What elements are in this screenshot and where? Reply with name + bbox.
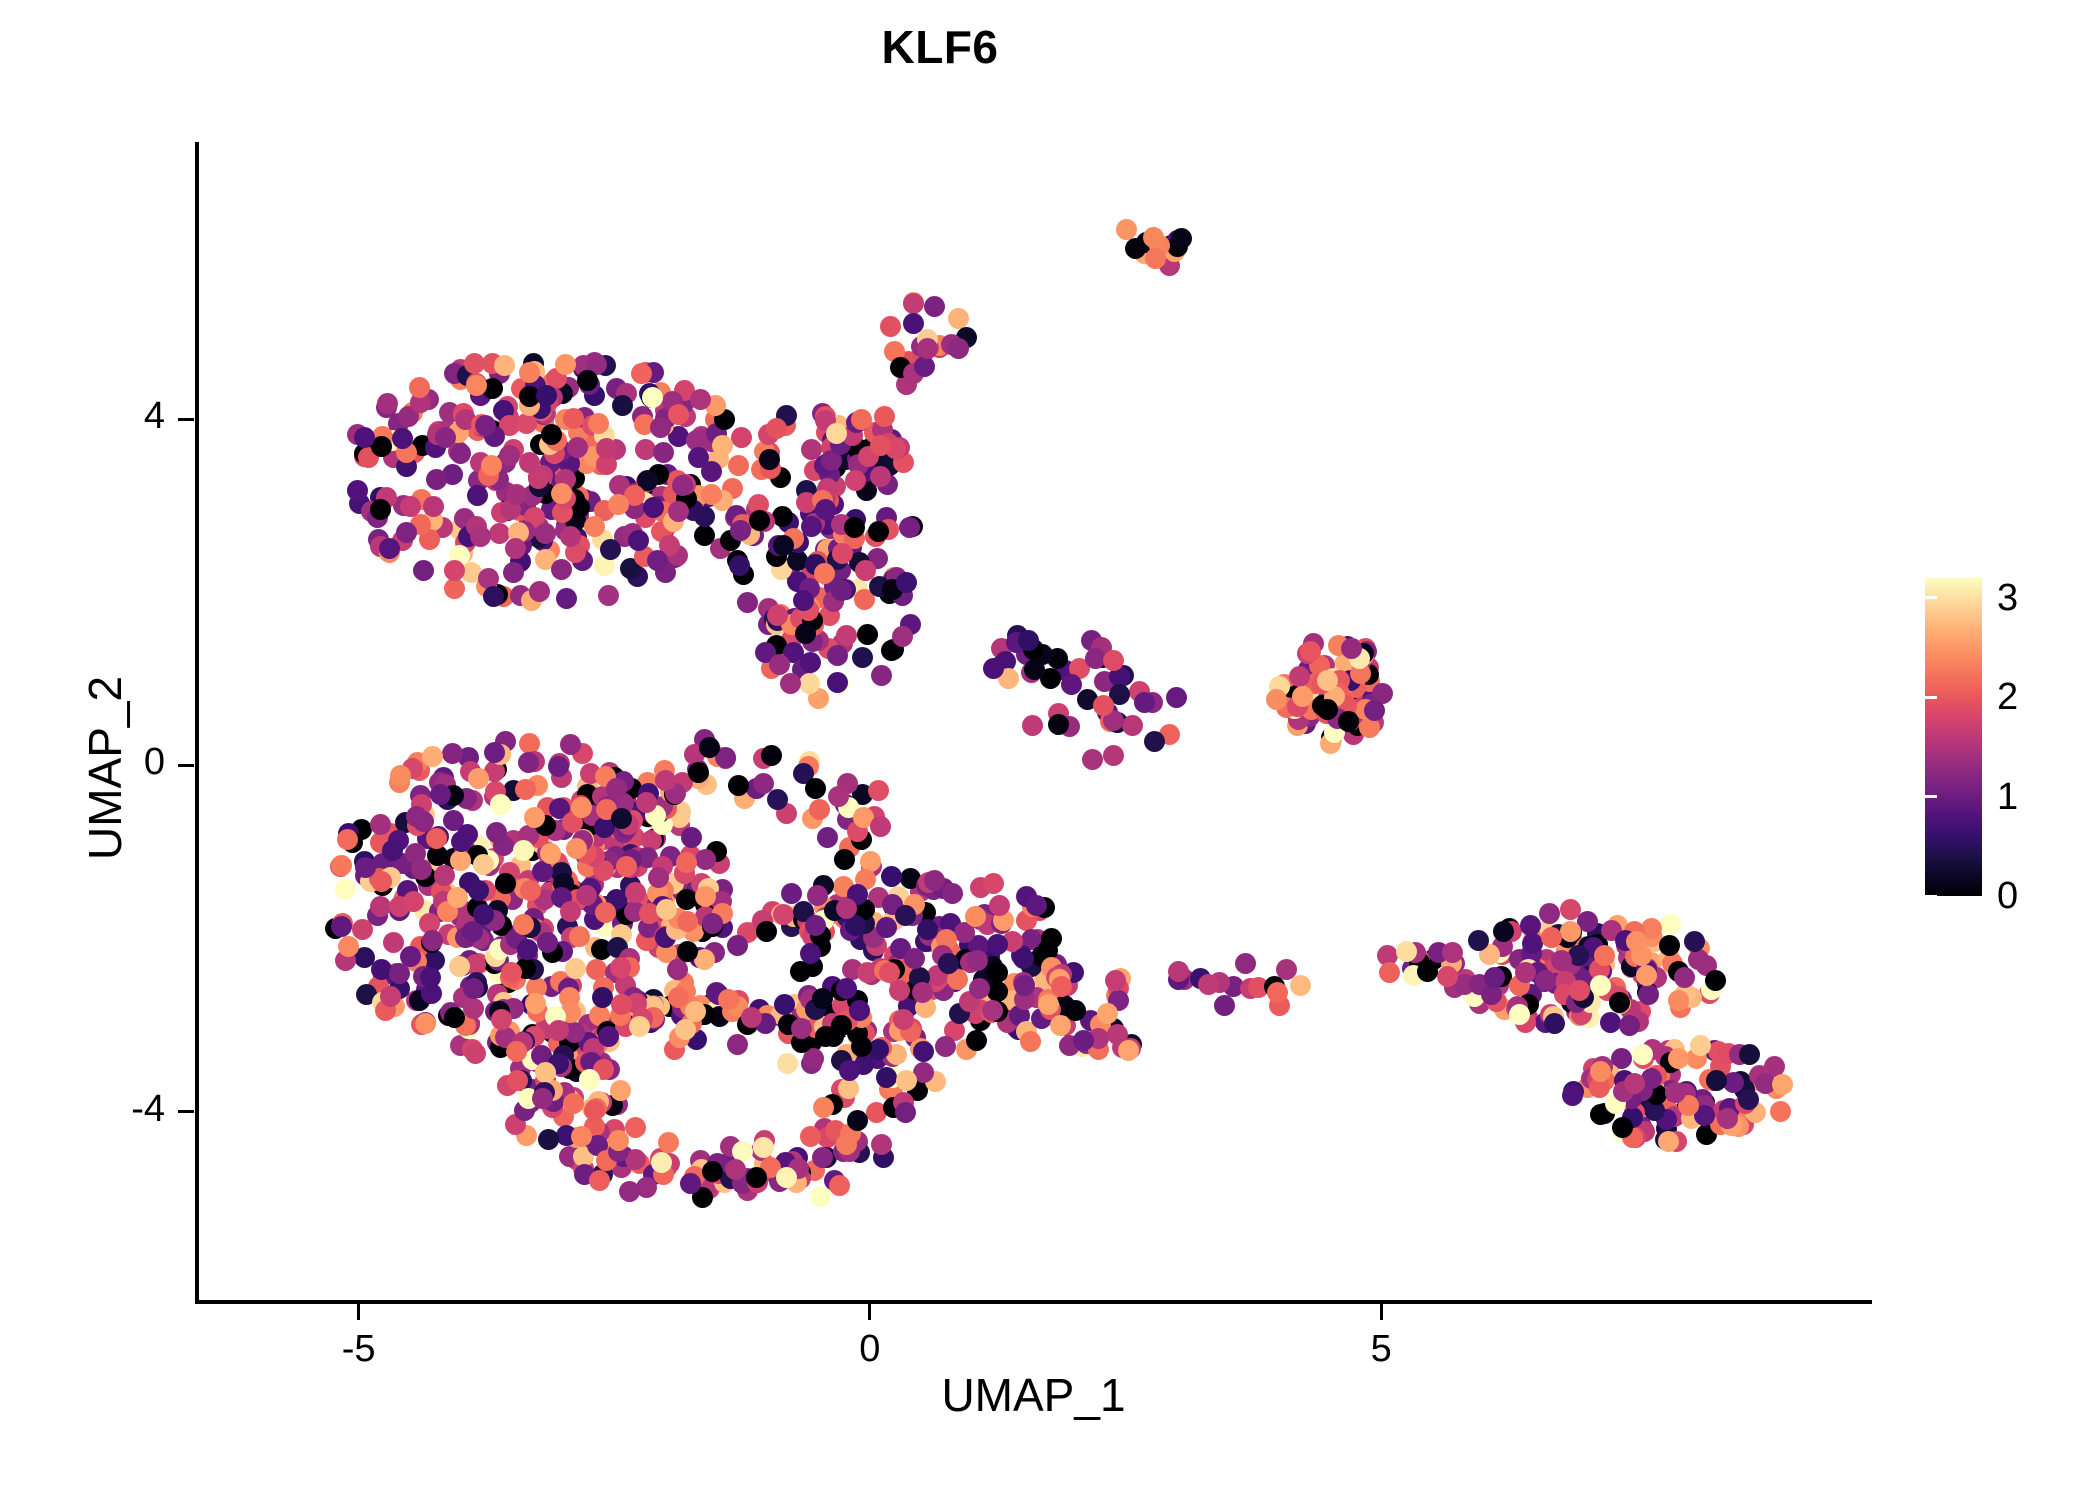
scatter-point (1706, 1070, 1727, 1091)
scatter-point (729, 555, 750, 576)
scatter-point (1116, 219, 1137, 240)
scatter-point (1024, 659, 1045, 680)
scatter-point (1624, 1073, 1645, 1094)
scatter-point (844, 517, 865, 538)
scatter-point (769, 654, 790, 675)
scatter-point (874, 406, 895, 427)
scatter-point (987, 934, 1008, 955)
scatter-point (571, 1126, 592, 1147)
scatter-point (899, 517, 920, 538)
scatter-point (1417, 961, 1438, 982)
x-axis-title: UMAP_1 (195, 1368, 1872, 1422)
scatter-point (680, 1173, 701, 1194)
scatter-point (1665, 1082, 1686, 1103)
scatter-point (676, 852, 697, 873)
colorbar-tick-label: 2 (1997, 678, 2018, 716)
scatter-point (577, 370, 598, 391)
x-axis-tick-label: -5 (299, 1328, 419, 1371)
scatter-point (1103, 745, 1124, 766)
scatter-point (1551, 950, 1572, 971)
scatter-point (1638, 984, 1659, 1005)
scatter-point (595, 902, 616, 923)
scatter-point (965, 906, 986, 927)
scatter-point (725, 1159, 746, 1180)
scatter-point (426, 469, 447, 490)
y-axis-tick (178, 764, 194, 767)
scatter-point (420, 967, 441, 988)
scatter-point (491, 1009, 512, 1030)
scatter-point (650, 417, 671, 438)
scatter-point (924, 296, 945, 317)
scatter-point (817, 827, 838, 848)
scatter-point (772, 506, 793, 527)
scatter-point (515, 779, 536, 800)
scatter-point (1166, 687, 1187, 708)
scatter-point (464, 353, 485, 374)
x-axis-tick (1380, 1304, 1383, 1320)
scatter-point (847, 1110, 868, 1131)
scatter-point (655, 770, 676, 791)
scatter-point (1145, 248, 1166, 269)
scatter-point (566, 838, 587, 859)
scatter-point (473, 854, 494, 875)
scatter-point (535, 523, 556, 544)
scatter-point (1659, 935, 1680, 956)
scatter-point (668, 501, 689, 522)
scatter-point (774, 994, 795, 1015)
scatter-point (503, 562, 524, 583)
colorbar-tick (1925, 795, 1937, 798)
scatter-point (967, 950, 988, 971)
scatter-point (718, 989, 739, 1010)
x-axis-tick-label: 5 (1321, 1328, 1441, 1371)
scatter-point (648, 867, 669, 888)
scatter-point (600, 539, 621, 560)
scatter-point (727, 1034, 748, 1055)
scatter-point (475, 415, 496, 436)
scatter-point (1364, 700, 1385, 721)
scatter-point (484, 742, 505, 763)
scatter-point (834, 849, 855, 870)
scatter-point (1684, 931, 1705, 952)
scatter-point (608, 494, 629, 515)
scatter-point (571, 797, 592, 818)
scatter-point (780, 673, 801, 694)
scatter-point (1560, 921, 1581, 942)
x-axis-tick-label: 0 (810, 1328, 930, 1371)
scatter-point (592, 987, 613, 1008)
scatter-point (536, 385, 557, 406)
scatter-point (966, 1030, 987, 1051)
scatter-point (1688, 949, 1709, 970)
scatter-point (555, 354, 576, 375)
scatter-point (1038, 994, 1059, 1015)
scatter-point (535, 1062, 556, 1083)
scatter-point (914, 356, 935, 377)
scatter-point (1118, 1040, 1139, 1061)
y-axis-tick (178, 1110, 194, 1113)
scatter-point (403, 891, 424, 912)
scatter-point (647, 550, 668, 571)
scatter-point (776, 1167, 797, 1188)
scatter-point (1134, 692, 1155, 713)
scatter-point (1660, 914, 1681, 935)
scatter-point (1097, 1003, 1118, 1024)
scatter-point (579, 1069, 600, 1090)
scatter-point (766, 418, 787, 439)
scatter-point (1717, 1108, 1738, 1129)
scatter-point (656, 899, 677, 920)
scatter-point (1379, 962, 1400, 983)
scatter-point (1539, 903, 1560, 924)
scatter-point (608, 1130, 629, 1151)
scatter-point (889, 980, 910, 1001)
scatter-point (868, 521, 889, 542)
scatter-point (836, 625, 857, 646)
scatter-point (1569, 980, 1590, 1001)
scatter-point (1300, 641, 1321, 662)
scatter-point (694, 506, 715, 527)
scatter-point (347, 480, 368, 501)
scatter-point (569, 926, 590, 947)
scatter-point (773, 535, 794, 556)
scatter-point (809, 799, 830, 820)
scatter-point (807, 885, 828, 906)
scatter-point (370, 499, 391, 520)
scatter-point (450, 850, 471, 871)
scatter-point (409, 377, 430, 398)
scatter-point (584, 1100, 605, 1121)
scatter-point (1690, 1035, 1711, 1056)
scatter-point (871, 665, 892, 686)
scatter-point (494, 355, 515, 376)
scatter-plot-area (195, 142, 1872, 1302)
colorbar-tick (1925, 696, 1937, 699)
colorbar-tick (2063, 795, 2075, 798)
colorbar-tick-label: 1 (1997, 778, 2018, 816)
scatter-point (1541, 927, 1562, 948)
scatter-point (442, 743, 463, 764)
scatter-point (896, 1070, 917, 1091)
scatter-point (969, 978, 990, 999)
scatter-point (629, 1016, 650, 1037)
scatter-point (1171, 228, 1192, 249)
scatter-point (727, 935, 748, 956)
scatter-point (380, 986, 401, 1007)
scatter-point (1093, 695, 1114, 716)
scatter-point (702, 913, 723, 934)
y-axis-title: UMAP_2 (78, 676, 132, 860)
scatter-point (589, 1170, 610, 1191)
scatter-point (685, 1001, 706, 1022)
scatter-point (560, 901, 581, 922)
scatter-point (422, 746, 443, 767)
scatter-point (1266, 689, 1287, 710)
scatter-point (989, 895, 1010, 916)
scatter-point (870, 435, 891, 456)
scatter-point (677, 911, 698, 932)
y-axis-tick (178, 418, 194, 421)
scatter-point (870, 816, 891, 837)
scatter-point (506, 1041, 527, 1062)
scatter-point (1103, 650, 1124, 671)
scatter-point (852, 647, 873, 668)
scatter-point (917, 338, 938, 359)
color-legend: 3210 (1925, 578, 2075, 898)
scatter-point (392, 428, 413, 449)
scatter-point (513, 914, 534, 935)
scatter-point (851, 1036, 872, 1057)
scatter-point (668, 404, 689, 425)
scatter-point (1668, 1048, 1689, 1069)
scatter-point (702, 1161, 723, 1182)
scatter-point (616, 856, 637, 877)
scatter-point (1341, 638, 1362, 659)
scatter-point (541, 424, 562, 445)
scatter-point (371, 871, 392, 892)
colorbar-gradient (1925, 578, 1982, 896)
scatter-point (423, 496, 444, 517)
scatter-point (781, 883, 802, 904)
scatter-point (924, 870, 945, 891)
scatter-point (728, 455, 749, 476)
scatter-point (426, 828, 447, 849)
scatter-point (1442, 942, 1463, 963)
scatter-point (695, 886, 716, 907)
scatter-point (1437, 966, 1458, 987)
scatter-point (449, 956, 470, 977)
scatter-point (1276, 959, 1297, 980)
scatter-point (517, 939, 538, 960)
y-axis-tick-label: 4 (40, 395, 165, 438)
scatter-point (828, 786, 849, 807)
scatter-point (903, 313, 924, 334)
scatter-point (1013, 948, 1034, 969)
scatter-point (1705, 970, 1726, 991)
scatter-point (1022, 715, 1043, 736)
scatter-point (1619, 1015, 1640, 1036)
scatter-point (935, 1036, 956, 1057)
scatter-point (812, 1147, 833, 1168)
scatter-point (773, 904, 794, 925)
scatter-point (1658, 1131, 1679, 1152)
scatter-point (831, 580, 852, 601)
scatter-point (892, 626, 913, 647)
scatter-point (598, 1026, 619, 1047)
scatter-point (761, 745, 782, 766)
scatter-point (876, 917, 897, 938)
scatter-point (1770, 1101, 1791, 1122)
scatter-point (466, 375, 487, 396)
scatter-point (467, 485, 488, 506)
scatter-point (1668, 990, 1689, 1011)
scatter-point (415, 1013, 436, 1034)
scatter-point (731, 427, 752, 448)
scatter-point (896, 572, 917, 593)
colorbar-tick (2063, 596, 2075, 599)
scatter-point (435, 427, 456, 448)
scatter-point (987, 962, 1008, 983)
scatter-point (800, 652, 821, 673)
scatter-point (389, 963, 410, 984)
scatter-point (430, 784, 451, 805)
scatter-point (588, 413, 609, 434)
scatter-point (1600, 1012, 1621, 1033)
scatter-point (881, 866, 902, 887)
scatter-point (712, 435, 733, 456)
scatter-point (658, 1132, 679, 1153)
scatter-point (551, 483, 572, 504)
scatter-point (642, 387, 663, 408)
scatter-point (1235, 953, 1256, 974)
scatter-point (331, 855, 352, 876)
scatter-point (913, 1041, 934, 1062)
scatter-point (805, 778, 826, 799)
scatter-point (354, 427, 375, 448)
scatter-point (465, 1043, 486, 1064)
scatter-point (681, 827, 702, 848)
page-title: KLF6 (0, 22, 1880, 73)
scatter-point (737, 592, 758, 613)
scatter-point (619, 1181, 640, 1202)
scatter-point (382, 840, 403, 861)
scatter-point (444, 560, 465, 581)
scatter-point (810, 1186, 831, 1207)
scatter-point (1122, 715, 1143, 736)
scatter-point (1050, 1015, 1071, 1036)
scatter-point (463, 998, 484, 1019)
scatter-point (688, 762, 709, 783)
scatter-point (1739, 1044, 1760, 1065)
scatter-point (625, 1117, 646, 1138)
scatter-point (791, 1018, 812, 1039)
scatter-point (377, 393, 398, 414)
scatter-point (396, 522, 417, 543)
scatter-point (411, 859, 432, 880)
scatter-point (836, 978, 857, 999)
scatter-point (529, 581, 550, 602)
scatter-point (813, 1097, 834, 1118)
scatter-point (379, 538, 400, 559)
scatter-point (537, 932, 558, 953)
scatter-point (904, 948, 925, 969)
colorbar-tick-label: 3 (1997, 579, 2018, 617)
scatter-point (831, 1015, 852, 1036)
scatter-point (451, 831, 472, 852)
scatter-point (352, 919, 373, 940)
scatter-point (556, 588, 577, 609)
scatter-point (1214, 995, 1235, 1016)
scatter-point (625, 882, 646, 903)
scatter-point (1082, 749, 1103, 770)
scatter-point (1317, 699, 1338, 720)
scatter-point (880, 316, 901, 337)
scatter-point (868, 780, 889, 801)
scatter-point (793, 590, 814, 611)
scatter-point (560, 526, 581, 547)
scatter-point (490, 794, 511, 815)
x-axis-tick (868, 1304, 871, 1320)
scatter-point (759, 449, 780, 470)
scatter-point (560, 734, 581, 755)
scatter-point (610, 1080, 631, 1101)
scatter-point (335, 879, 356, 900)
scatter-point (1026, 895, 1047, 916)
colorbar-tick (2063, 696, 2075, 699)
scatter-point (563, 1093, 584, 1114)
scatter-point (1609, 992, 1630, 1013)
scatter-point (1289, 666, 1310, 687)
scatter-point (801, 516, 822, 537)
scatter-point (598, 585, 619, 606)
scatter-point (540, 843, 561, 864)
scatter-point (829, 1175, 850, 1196)
scatter-point (653, 442, 674, 463)
scatter-point (1562, 1085, 1583, 1106)
scatter-point (839, 1060, 860, 1081)
scatter-point (1509, 1004, 1530, 1025)
scatter-point (851, 409, 872, 430)
scatter-point (1168, 961, 1189, 982)
scatter-point (1014, 975, 1035, 996)
scatter-point (1048, 714, 1069, 735)
scatter-point (668, 987, 689, 1008)
scatter-point (486, 822, 507, 843)
colorbar-tick (1925, 895, 1937, 898)
scatter-point (1674, 967, 1695, 988)
scatter-point (895, 1102, 916, 1123)
scatter-point (857, 624, 878, 645)
scatter-point (800, 1126, 821, 1147)
scatter-point (495, 873, 516, 894)
scatter-point (612, 395, 633, 416)
scatter-point (483, 586, 504, 607)
scatter-point (422, 930, 443, 951)
scatter-point (548, 1020, 569, 1041)
scatter-point (1267, 982, 1288, 1003)
scatter-point (331, 916, 352, 937)
scatter-point (1396, 941, 1417, 962)
scatter-point (551, 559, 572, 580)
scatter-point (470, 526, 491, 547)
scatter-point (749, 510, 770, 531)
scatter-point (777, 1053, 798, 1074)
scatter-point (643, 497, 664, 518)
scatter-point (450, 443, 471, 464)
scatter-point (756, 921, 777, 942)
scatter-point (548, 756, 569, 777)
scatter-point (1626, 931, 1647, 952)
scatter-point (832, 543, 853, 564)
scatter-point (1290, 975, 1311, 996)
scatter-point (501, 962, 522, 983)
scatter-point (827, 645, 848, 666)
scatter-point (406, 806, 427, 827)
scatter-point (983, 873, 1004, 894)
scatter-point (538, 1129, 559, 1150)
scatter-point (1020, 1031, 1041, 1052)
x-axis-tick (357, 1304, 360, 1320)
scatter-point (948, 338, 969, 359)
scatter-point (636, 792, 657, 813)
scatter-point (849, 1000, 870, 1021)
scatter-point (799, 673, 820, 694)
scatter-point (520, 880, 541, 901)
scatter-point (814, 563, 835, 584)
scatter-point (1484, 967, 1505, 988)
scatter-point (903, 293, 924, 314)
scatter-point (413, 560, 434, 581)
